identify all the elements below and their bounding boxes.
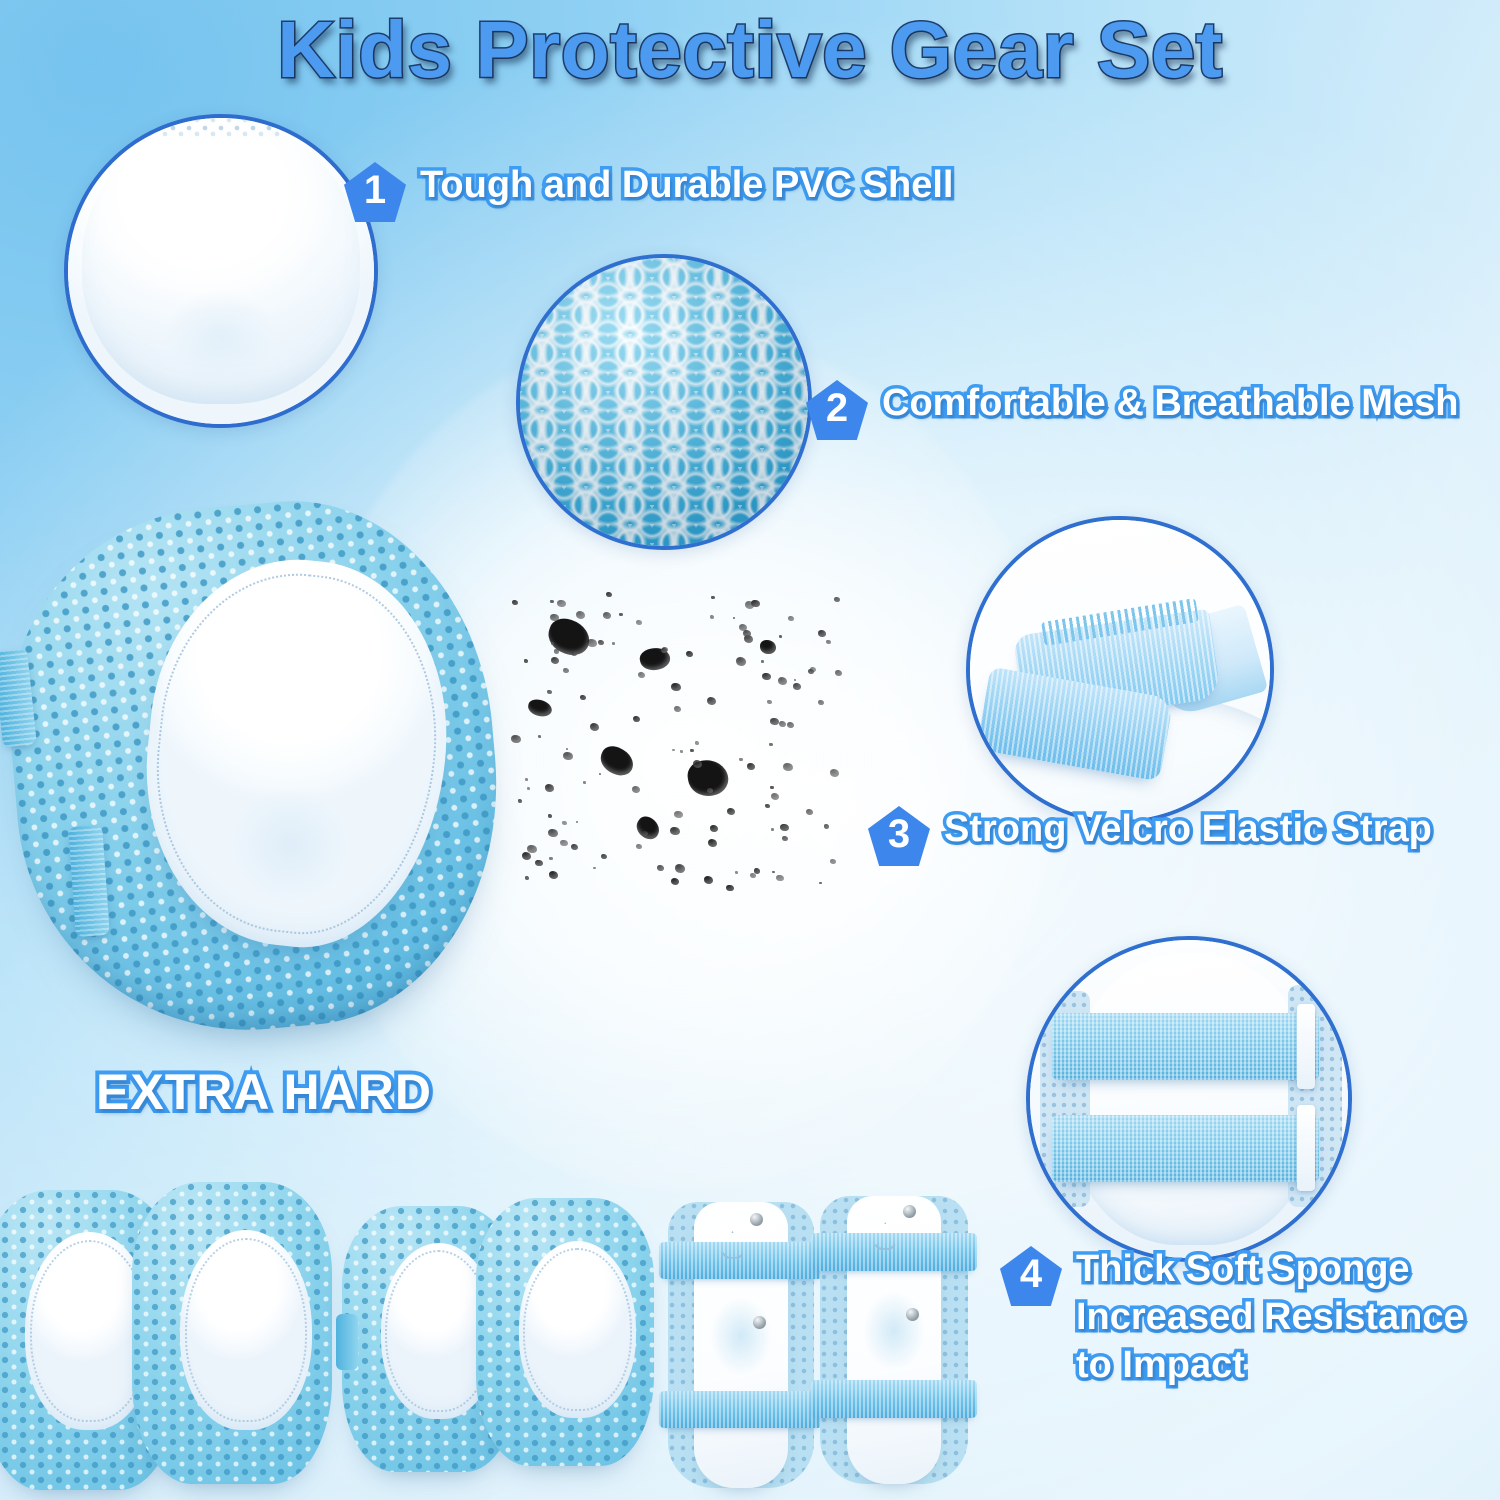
debris-speck — [690, 749, 694, 752]
wrist-strap-lower — [1052, 1115, 1319, 1182]
feature-label-3: 3 Strong Velcro Elastic Strap — [868, 806, 1432, 866]
debris-speck — [765, 804, 770, 808]
infographic-canvas: Kids Protective Gear Set — [0, 0, 1500, 1500]
debris-speck — [566, 748, 568, 750]
debris-speck — [545, 784, 554, 792]
feature-badge-2: 2 — [806, 380, 868, 440]
debris-chunk — [760, 640, 776, 654]
elbow-pad-right — [476, 1198, 654, 1466]
debris-speck — [548, 814, 552, 818]
debris-speck — [560, 840, 568, 846]
debris-speck — [657, 865, 664, 871]
debris-speck — [547, 690, 552, 694]
debris-speck — [550, 614, 559, 621]
wrist-plate-waist — [703, 1288, 779, 1385]
wrist-buckle-lower — [1297, 1105, 1314, 1191]
debris-speck — [672, 749, 675, 751]
debris-speck — [830, 859, 836, 864]
wrist-plate-waist — [856, 1282, 933, 1380]
debris-speck — [518, 799, 522, 803]
debris-speck — [598, 640, 604, 645]
wrist-guards-pair — [668, 1196, 968, 1496]
debris-speck — [776, 875, 784, 881]
debris-speck — [735, 871, 738, 874]
debris-speck — [576, 611, 585, 619]
feature-badge-3: 3 — [868, 806, 930, 866]
debris-speck — [535, 860, 543, 866]
debris-speck — [680, 750, 683, 753]
feature-text-3: Strong Velcro Elastic Strap — [944, 806, 1432, 854]
debris-speck — [761, 660, 764, 663]
wrist-strap-upper — [1052, 1013, 1319, 1080]
debris-speck — [557, 600, 566, 607]
debris-speck — [612, 642, 615, 645]
debris-speck — [710, 615, 714, 619]
wrist-buckle-upper — [1297, 1004, 1314, 1090]
feature-badge-1: 1 — [344, 162, 406, 222]
debris-speck — [619, 613, 623, 616]
debris-speck — [708, 839, 717, 847]
callout-circle-wrist-straps — [1026, 936, 1352, 1262]
wrist-rivet-mid — [753, 1316, 766, 1329]
debris-speck — [638, 672, 645, 678]
debris-speck — [736, 657, 746, 666]
callout-circle-mesh — [516, 254, 812, 550]
wrist-guard-right — [820, 1196, 968, 1484]
debris-speck — [762, 673, 771, 680]
debris-speck — [674, 706, 681, 712]
pad-strap-tab — [336, 1314, 358, 1370]
debris-speck — [525, 778, 528, 781]
debris-speck — [726, 885, 734, 891]
debris-speck — [601, 854, 607, 859]
debris-speck — [583, 781, 586, 784]
debris-speck — [590, 723, 599, 731]
debris-speck — [548, 829, 558, 837]
debris-speck — [527, 787, 530, 790]
debris-speck — [525, 876, 529, 880]
debris-speck — [818, 630, 826, 637]
debris-speck — [636, 620, 642, 625]
debris-speck — [524, 659, 528, 663]
debris-speck — [733, 617, 735, 619]
debris-speck — [788, 616, 794, 621]
wrist-guard-left — [668, 1202, 814, 1488]
debris-speck — [707, 788, 713, 793]
debris-speck — [551, 657, 559, 664]
debris-speck — [599, 773, 601, 775]
debris-speck — [767, 700, 772, 704]
feature-label-4: 4 Thick Soft Sponge Increased Resistance… — [1000, 1246, 1465, 1390]
feature-text-2: Comfortable & Breathable Mesh — [882, 380, 1458, 428]
debris-speck — [771, 793, 779, 800]
shell-crease — [142, 271, 301, 403]
debris-speck — [704, 876, 713, 884]
debris-speck — [747, 763, 755, 770]
debris-speck — [563, 752, 573, 760]
wrist-strap-upper — [659, 1242, 823, 1279]
debris-speck — [549, 871, 558, 879]
debris-speck — [695, 741, 699, 745]
wrist-shell — [1068, 953, 1316, 1246]
wrist-strap-lower — [811, 1380, 977, 1417]
pvc-shell-icon — [64, 114, 378, 428]
debris-speck — [751, 600, 760, 607]
elbow-pads-pair — [342, 1196, 654, 1496]
knee-pad-right — [132, 1182, 332, 1484]
debris-speck — [636, 844, 642, 849]
debris-speck — [671, 878, 679, 885]
debris-speck — [771, 828, 774, 831]
page-title: Kids Protective Gear Set — [0, 4, 1500, 96]
hero-knee-pad — [0, 494, 506, 1046]
callout-circle-pvc-shell — [64, 114, 378, 428]
debris-speck — [550, 600, 554, 603]
debris-speck — [778, 677, 787, 685]
debris-speck — [754, 868, 760, 874]
feature-text-4: Thick Soft Sponge Increased Resistance t… — [1076, 1246, 1465, 1390]
debris-speck — [787, 722, 794, 728]
debris-speck — [632, 786, 640, 793]
debris-speck — [593, 867, 596, 869]
debris-speck — [693, 760, 702, 768]
debris-speck — [707, 697, 716, 705]
feature-label-1: 1 Tough and Durable PVC Shell — [344, 162, 953, 222]
feature-text-1: Tough and Durable PVC Shell — [420, 162, 953, 210]
debris-speck — [770, 786, 774, 789]
wrist-rivet-top — [903, 1205, 916, 1218]
debris-speck — [834, 597, 840, 602]
debris-speck — [511, 735, 521, 743]
debris-speck — [674, 811, 683, 818]
pad-shell — [519, 1241, 636, 1418]
debris-speck — [779, 721, 786, 727]
debris-speck — [522, 852, 531, 860]
debris-speck — [779, 635, 782, 638]
extra-hard-badge: EXTRA HARD — [96, 1063, 432, 1121]
debris-speck — [824, 824, 829, 829]
debris-speck — [830, 769, 839, 777]
callout-circle-velcro-strap — [966, 516, 1274, 824]
debris-speck — [606, 592, 612, 597]
debris-speck — [675, 864, 685, 873]
debris-speck — [783, 763, 793, 771]
debris-speck — [512, 600, 518, 605]
debris-speck — [562, 821, 567, 825]
pad-shell — [180, 1230, 312, 1429]
debris-speck — [551, 642, 554, 645]
debris-speck — [770, 718, 779, 725]
debris-speck — [661, 648, 667, 653]
shell-mesh-edge — [89, 114, 353, 139]
wrist-strap-upper — [811, 1233, 977, 1270]
debris-speck — [750, 873, 756, 878]
debris-speck — [826, 640, 831, 644]
wrist-strap-lower — [659, 1391, 823, 1428]
debris-speck — [670, 827, 680, 835]
feature-label-2: 2 Comfortable & Breathable Mesh — [806, 380, 1458, 440]
knee-pads-pair — [0, 1182, 332, 1500]
debris-speck — [806, 809, 813, 815]
debris-speck — [571, 844, 578, 850]
debris-speck — [710, 825, 718, 832]
debris-speck — [793, 683, 801, 690]
debris-speck — [587, 639, 597, 647]
mesh-shading — [520, 258, 808, 546]
debris-speck — [808, 669, 814, 674]
debris-speck — [671, 683, 681, 691]
debris-speck — [642, 831, 648, 836]
debris-speck — [782, 836, 788, 841]
feature-badge-4: 4 — [1000, 1246, 1062, 1306]
debris-speck — [743, 630, 751, 637]
debris-speck — [554, 649, 559, 654]
